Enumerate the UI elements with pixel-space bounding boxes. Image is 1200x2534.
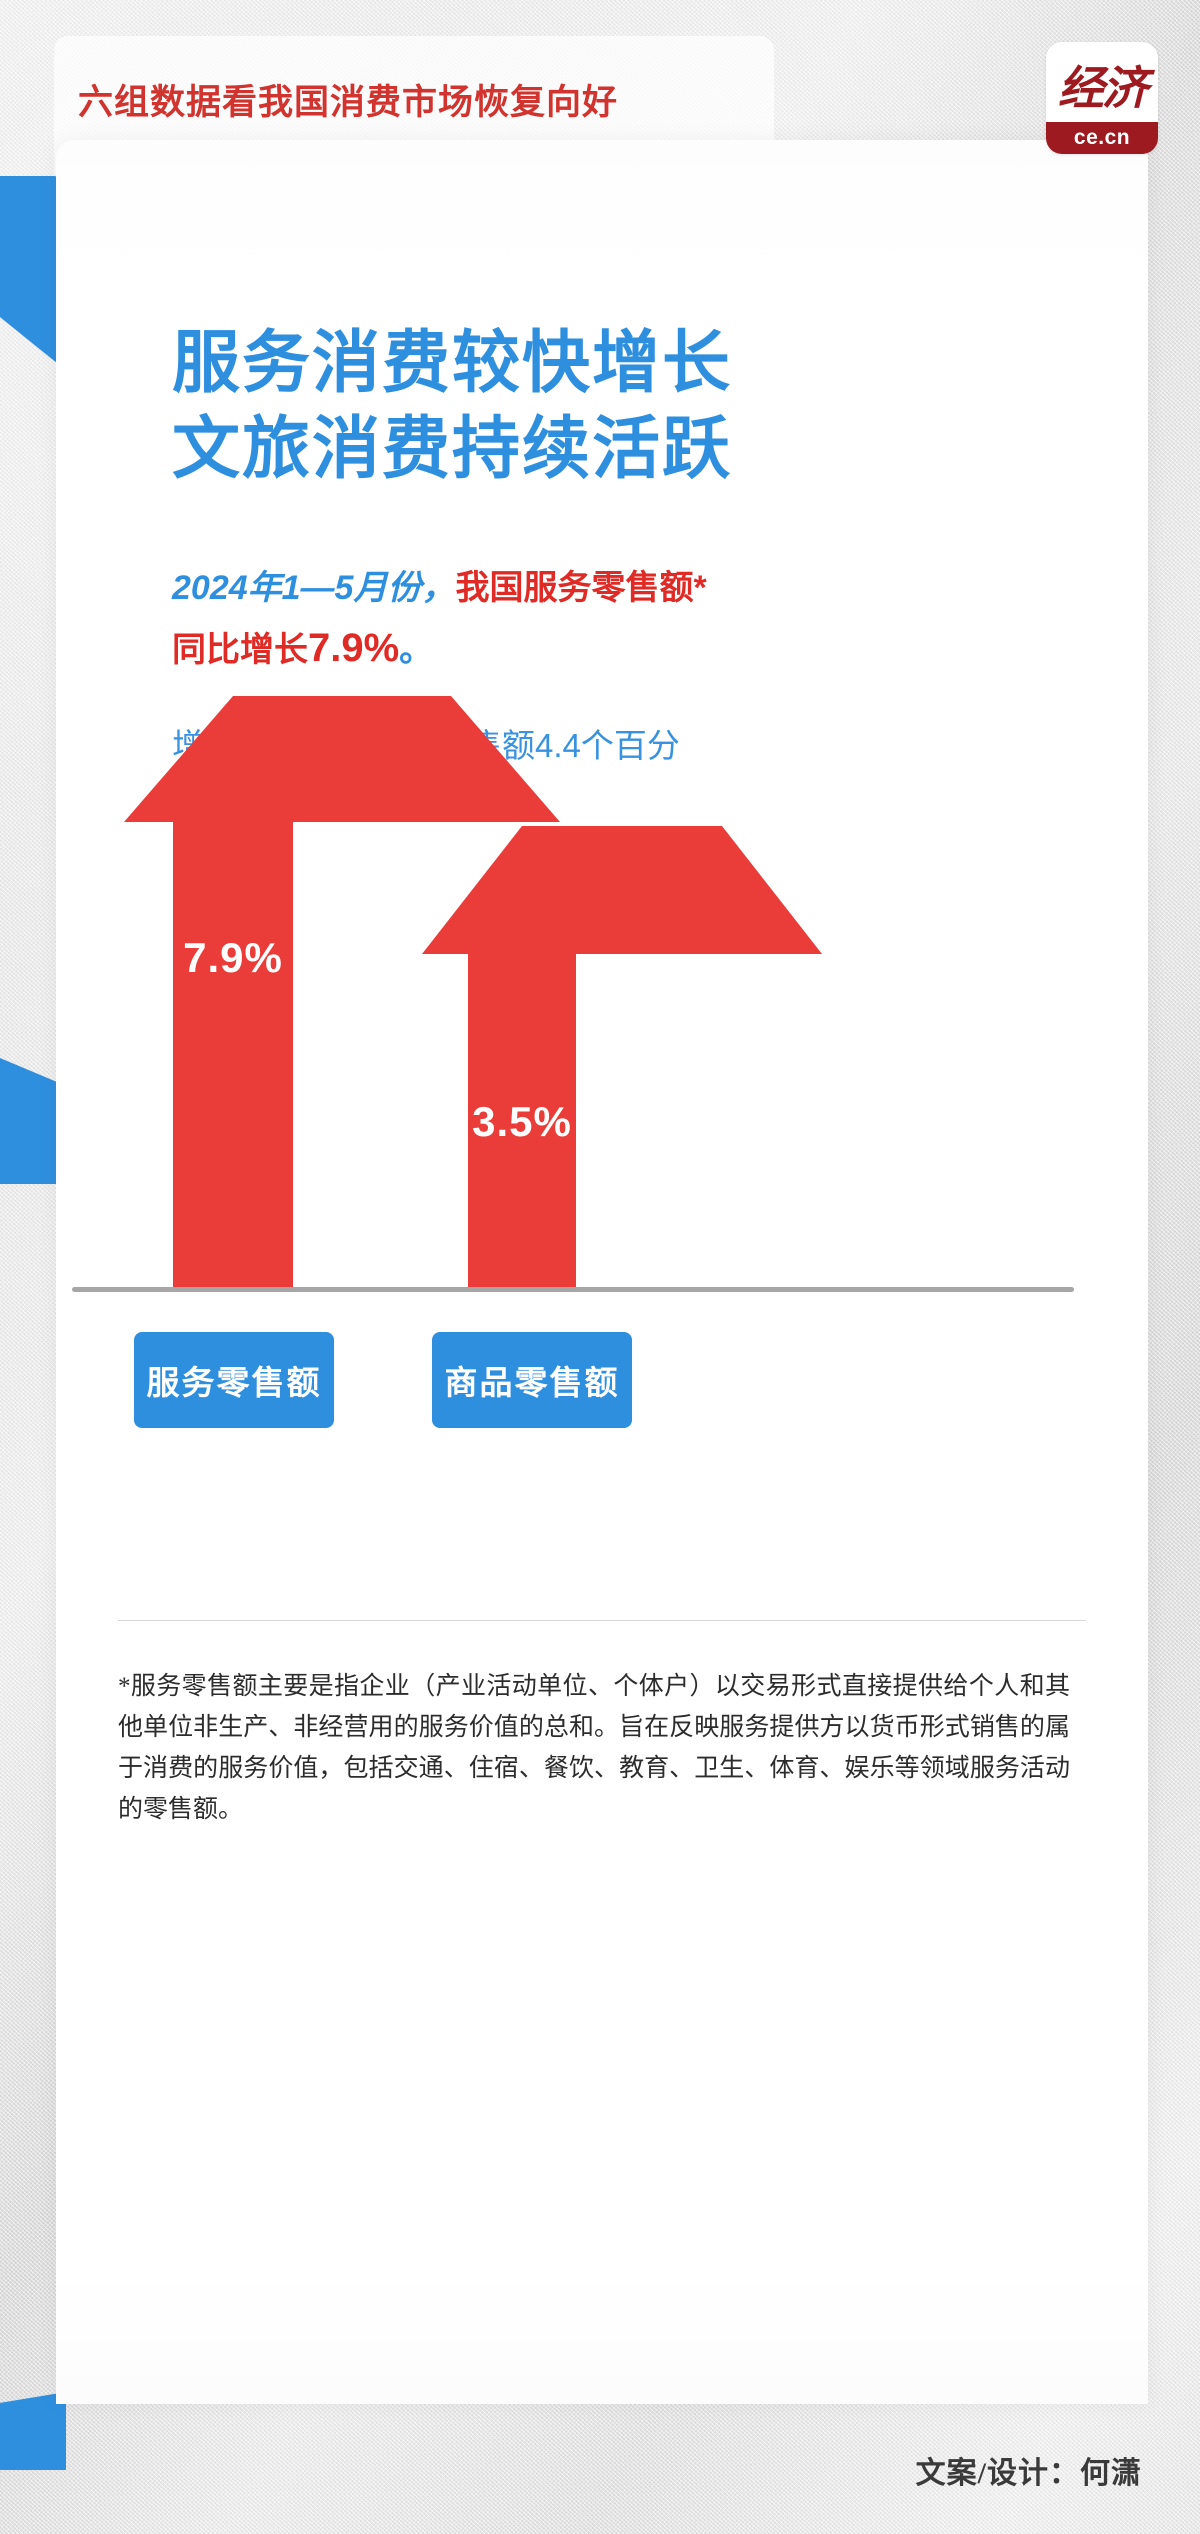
arrow-shaft-0	[173, 820, 293, 1288]
logo-domain-band: ce.cn	[1046, 122, 1158, 154]
category-box-1: 商品零售额	[432, 1332, 632, 1428]
logo-calligraphy-mark: 经济	[1046, 46, 1158, 124]
arrow-value-label-1: 3.5%	[422, 1098, 622, 1146]
arrow-bar-0: 7.9%	[124, 696, 342, 1288]
arrow-bar-chart: 7.9% 3.5% 服务零售额 商品零售额	[56, 688, 1148, 1428]
arrow-value-label-0: 7.9%	[124, 934, 342, 982]
chart-baseline	[72, 1287, 1074, 1292]
page-title-line-2: 文旅消费持续活跃	[172, 406, 1072, 492]
lead-subject: 我国服务零售额*	[455, 569, 706, 607]
arrow-head-0	[124, 696, 560, 822]
credit-line: 文案/设计：何潇	[916, 2448, 1142, 2492]
main-content: 服务消费较快增长 文旅消费持续活跃 2024年1—5月份，我国服务零售额*同比增…	[56, 140, 1148, 2404]
category-label-0: 服务零售额	[147, 1356, 322, 1404]
series-title: 六组数据看我国消费市场恢复向好	[78, 74, 618, 125]
ce-cn-logo: 经济 ce.cn	[1046, 42, 1158, 154]
infographic-poster: 六组数据看我国消费市场恢复向好 经济 ce.cn 服务消费较快增长 文旅消费持续…	[0, 0, 1200, 2534]
footnote-text: *服务零售额主要是指企业（产业活动单位、个体户）以交易形式直接提供给个人和其他单…	[118, 1666, 1070, 1830]
page-title-line-1: 服务消费较快增长	[172, 325, 732, 401]
lead-period: 。	[399, 631, 433, 669]
page-title: 服务消费较快增长 文旅消费持续活跃	[172, 320, 1072, 492]
lead-paragraph: 2024年1—5月份，我国服务零售额*同比增长7.9%。	[172, 558, 732, 680]
category-label-1: 商品零售额	[445, 1356, 620, 1404]
category-box-0: 服务零售额	[134, 1332, 334, 1428]
arrow-bar-1: 3.5%	[422, 826, 622, 1288]
logo-domain-text: ce.cn	[1074, 126, 1130, 150]
lead-value: 7.9%	[308, 626, 399, 670]
lead-date: 2024年1—5月份，	[172, 569, 455, 607]
lead-verb: 同比增长	[172, 631, 308, 669]
footnote-divider	[118, 1620, 1086, 1621]
arrow-head-1	[422, 826, 822, 954]
